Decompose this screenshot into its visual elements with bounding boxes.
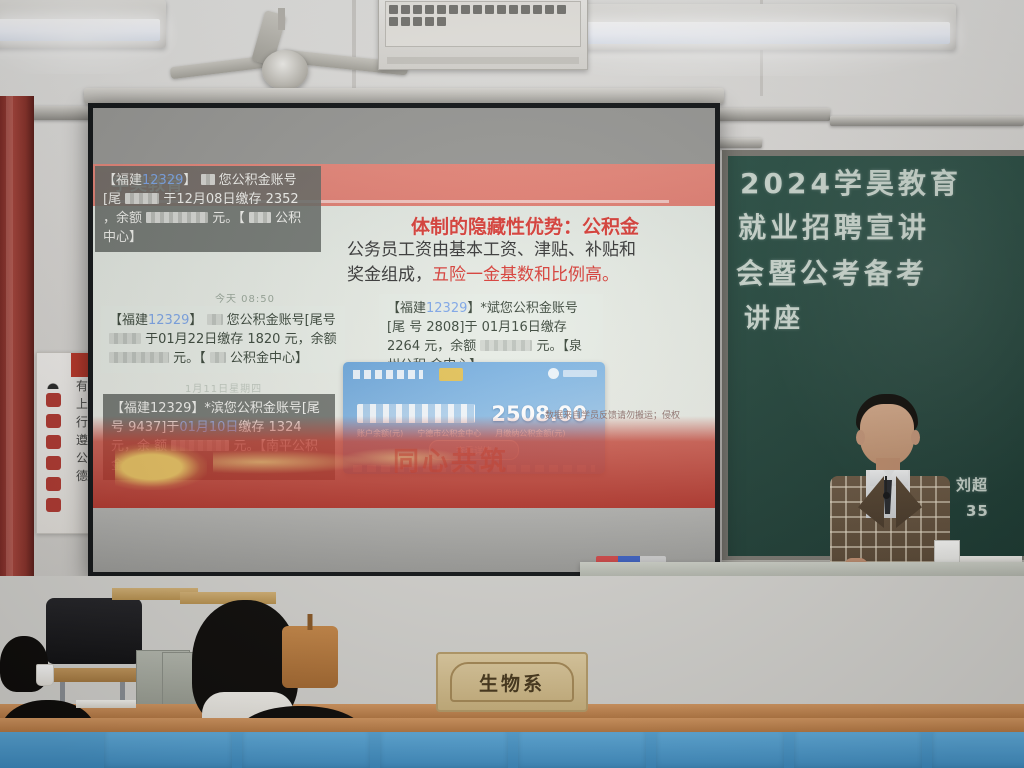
blackboard-line-3: 会暨公考备考 [736,252,928,292]
lamp-tube [0,19,160,41]
sms2-open: 【福建 [109,313,148,328]
sms1-mask-c [146,212,208,223]
sms2-text-d: 公积金中心】 [230,351,308,366]
sms2-mask-c [109,352,169,363]
slide-body-line-2-plain: 奖金组成， [347,265,432,285]
sms1-text-e: 公积 [275,211,301,226]
blackboard-line-1: 2024学昊教育 [740,162,962,202]
poster-icon-star [46,477,61,491]
classroom-photo: 有上行遵公德 2024学昊教育 就业招聘宣讲 会暨公考备考 讲座 刘超 35 [0,0,1024,768]
festive-gold-ornament-1 [115,444,207,490]
wall-poster: 有上行遵公德 [36,352,96,534]
bench-desk-top-front [0,718,1024,732]
fan-hub [262,50,308,90]
sms2-shortcode: 12329 [148,313,189,328]
sms2-text-c: 元。【 [173,351,206,366]
projector-screen-roller [84,88,724,104]
chair-seat [48,668,140,682]
sms4-mask-a [480,340,532,351]
ceiling-lamp-left [0,0,166,48]
presenter-ear-left [856,430,865,445]
fan-rod [278,8,285,30]
sms4-open: 【福建 [387,301,426,316]
poster-icon-person [46,393,61,407]
slide-festive-band: 同心共筑 [93,416,715,508]
projector-control-panel[interactable] [378,0,588,70]
sms1-text-c: ，余额 [103,211,142,226]
presentation-slide: 学昊教育 体制的隐藏性优势：公积金 公务员工资由基本工资、津贴、补贴和 奖金组成… [93,108,715,508]
blackboard-corner-note-1: 刘超 [956,474,988,495]
sms4-text-c: 元，余额 [424,339,476,354]
blackboard-corner-note-2: 35 [966,502,989,520]
sms4-shortcode: 12329 [426,301,467,316]
bench-seat-6[interactable] [794,732,922,768]
notebook [76,700,136,708]
control-panel-label [387,57,579,64]
sms1-mask-b [125,193,159,204]
bench-seat-3[interactable] [380,732,508,768]
sms1-shortcode: 12329 [142,173,183,188]
sms1-mask-a [201,174,215,185]
sms-bubble-2: 【福建12329】 您公积金账号[尾号 于01月22日缴存 1820 元，余额 … [101,306,345,373]
poster-icon-megaphone [46,435,61,449]
sms1-mask-d [249,212,271,223]
sms2-text-b: 于01月22日缴存 1820 元，余额 [145,332,336,347]
handbag-strap [308,614,313,630]
poster-icon-column [41,393,65,512]
sms2-mask-b [109,333,141,344]
projector-screen: 学昊教育 体制的隐藏性优势：公积金 公务员工资由基本工资、津贴、补贴和 奖金组成… [93,108,715,572]
bench-seat-1[interactable] [104,732,232,768]
chair-backrest [46,598,142,664]
slide-top-blank [93,108,715,164]
blackboard-line-2: 就业招聘宣讲 [738,206,930,246]
bank-logo-wordmark [563,370,597,377]
paycard-masked-header [353,370,423,379]
bank-logo-icon [548,368,559,379]
paycard-chip-icon [439,368,463,381]
bench-seat-2[interactable] [242,732,370,768]
sms1-text-f: 中心】 [103,230,142,245]
sms1-text-d: 元。【 [212,211,245,226]
department-sign-inner: 生物系 [450,662,574,702]
presenter [830,392,950,578]
sms1-text-b: 于12月08日缴存 2352 [163,192,298,207]
ceiling-rail-far-right [830,116,1024,126]
sms1-close: 】 [183,173,196,188]
department-sign: 生物系 [436,652,588,712]
blackboard-line-4: 讲座 [744,298,804,335]
presenter-head [860,404,914,466]
department-sign-text: 生物系 [479,669,545,696]
presenter-ear-right [911,430,920,445]
ceiling-fan [170,8,410,98]
paycard-bank-logo [548,368,597,379]
sms2-text-a: 您公积金账号[尾号 [227,313,336,328]
poster-icon-badge [46,456,61,470]
poster-icon-hand [46,498,61,512]
sms1-open: 【福建 [103,173,142,188]
paper-cup [36,664,54,686]
festive-headline: 同心共筑 [393,441,509,478]
sms4-close: 】 [467,301,480,316]
sms2-mask-d [210,352,226,363]
bench-seat-4[interactable] [518,732,646,768]
sms2-close: 】 [189,313,202,328]
poster-icon-book [46,414,61,428]
student-handbag [282,626,338,688]
slide-title: 体制的隐藏性优势：公积金 [351,212,699,239]
slide-body-text: 公务员工资由基本工资、津贴、补贴和 奖金组成，五险一金基数和比例高。 [347,238,709,288]
sms-timestamp-1: 今天 08:50 [215,290,275,305]
bench-seat-5[interactable] [656,732,784,768]
sms-bubble-1: 【福建12329】 您公积金账号[尾 于12月08日缴存 2352 ，余额 元。… [95,166,321,252]
control-panel-grid [385,1,581,47]
sms2-mask-a [207,314,223,325]
lapel-microphone-icon [883,492,890,499]
slide-body-line-2-highlight: 五险一金基数和比例高。 [432,265,619,285]
poster-sunburst-icon [41,373,65,389]
sms-timestamp-2: 1月11日星期四 [185,380,262,395]
slide-body-line-1: 公务员工资由基本工资、津贴、补贴和 [347,240,636,260]
bench-seat-7[interactable] [932,732,1024,768]
